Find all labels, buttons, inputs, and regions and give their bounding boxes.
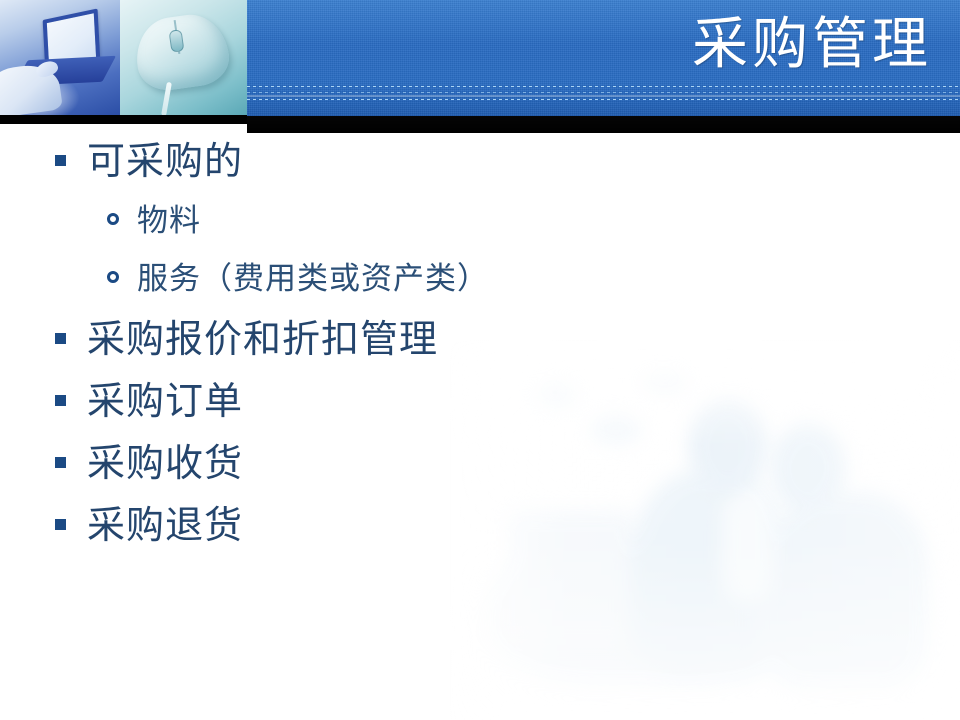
slide: 采购管理 可采购的 物料 服务（费用类或资产类） [0,0,960,720]
list-item: 物料 [0,200,960,258]
circle-bullet-icon [107,271,119,283]
banner-dashed-rule-2 [247,92,960,93]
list-item-label: 采购订单 [87,378,243,426]
list-item-label: 采购收货 [87,440,243,488]
circle-bullet-icon [107,213,119,225]
square-bullet-icon [55,333,66,344]
laptop-photo [0,0,120,115]
list-item: 采购订单 [0,378,960,440]
square-bullet-icon [55,395,66,406]
square-bullet-icon [55,457,66,468]
header-black-bar-left [0,115,247,124]
list-item-label: 采购退货 [87,502,243,550]
mouse-body-icon [131,10,232,94]
list-item: 采购报价和折扣管理 [0,316,960,378]
header-photo-strip [0,0,247,115]
header-black-bar-right [247,116,960,133]
list-item-label: 物料 [137,200,201,242]
slide-body: 可采购的 物料 服务（费用类或资产类） 采购报价和折扣管理 采购订单 采购收货 … [0,138,960,564]
banner-dashed-rule-1 [247,86,960,87]
list-item: 采购收货 [0,440,960,502]
mouse-photo [120,0,247,115]
list-item-label: 采购报价和折扣管理 [87,316,438,364]
list-item: 可采购的 [0,138,960,200]
banner-dashed-rule-3 [247,99,960,100]
banner-solid-rule [247,95,960,97]
list-item-label: 服务（费用类或资产类） [137,258,489,300]
list-item: 服务（费用类或资产类） [0,258,960,316]
slide-title: 采购管理 [692,14,932,76]
list-item-label: 可采购的 [87,138,243,186]
slide-header: 采购管理 [0,0,960,133]
list-item: 采购退货 [0,502,960,564]
header-banner: 采购管理 [247,0,960,117]
square-bullet-icon [55,519,66,530]
square-bullet-icon [55,155,66,166]
